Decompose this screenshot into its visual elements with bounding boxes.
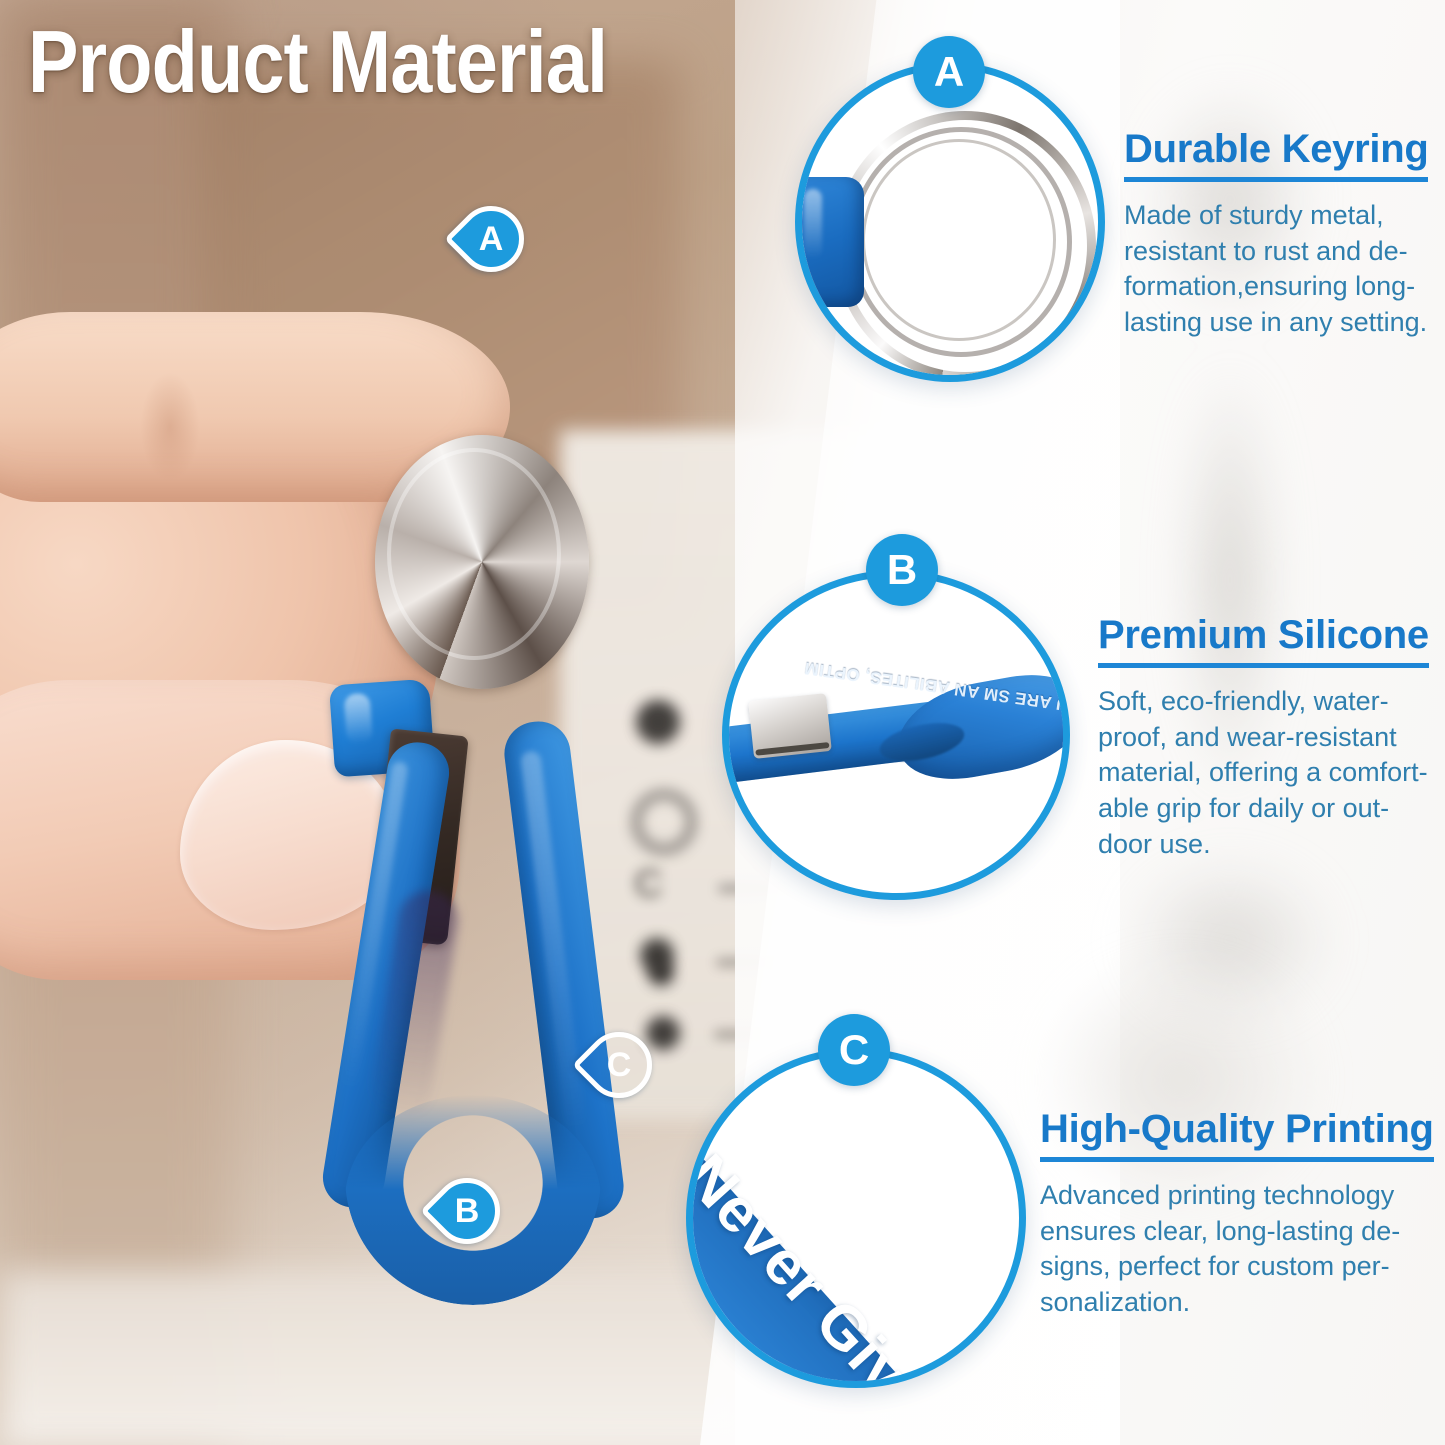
page-title: Product Material — [28, 18, 607, 106]
pin-marker-b[interactable]: B — [434, 1178, 500, 1262]
metal-clamp — [748, 693, 832, 759]
background-chart-mark — [636, 700, 680, 744]
feature-body-b: Soft, eco-friendly, water-proof, and wea… — [1098, 684, 1438, 862]
feature-heading-c: High-Quality Printing — [1040, 1108, 1434, 1162]
badge-c: C — [818, 1014, 890, 1086]
feature-heading-b: Premium Silicone — [1098, 614, 1429, 668]
pin-marker-c[interactable]: C — [586, 1032, 652, 1116]
split-keyring-inner — [387, 448, 561, 660]
keyring-macro-inner — [862, 139, 1056, 341]
keyring-silicone-collar — [795, 177, 864, 307]
feature-block-b: Premium Silicone Soft, eco-friendly, wat… — [1098, 614, 1438, 862]
feature-heading-a: Durable Keyring — [1124, 128, 1428, 182]
detail-circle-c: Never Give — [686, 1048, 1026, 1388]
feature-block-c: High-Quality Printing Advanced printing … — [1040, 1108, 1438, 1321]
feature-body-c: Advanced printing technology ensures cle… — [1040, 1178, 1438, 1321]
pin-label: A — [458, 206, 524, 272]
pin-label: B — [434, 1178, 500, 1244]
badge-b: B — [866, 534, 938, 606]
feature-block-a: Durable Keyring Made of sturdy metal, re… — [1124, 128, 1436, 341]
detail-circle-b: HAT YOU ARE SM AN ABILITES, OPTIM — [722, 570, 1070, 900]
printed-band-wrap: Never Give — [693, 1055, 1019, 1381]
detail-circle-a — [795, 62, 1105, 382]
feature-body-a: Made of sturdy metal, resistant to rust … — [1124, 198, 1436, 341]
infographic-canvas: C Product Material A B — [0, 0, 1445, 1445]
pin-label: C — [586, 1032, 652, 1098]
pin-marker-a[interactable]: A — [458, 206, 524, 290]
badge-a: A — [913, 36, 985, 108]
